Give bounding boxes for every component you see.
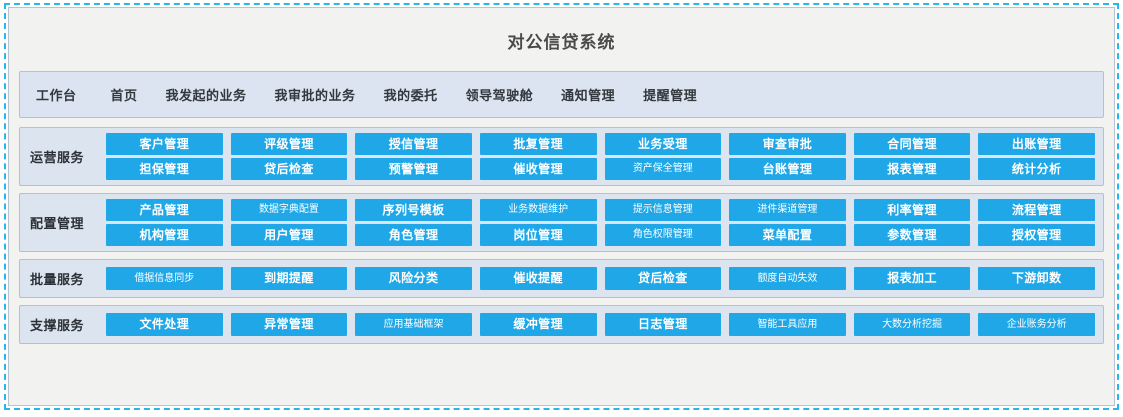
- module-tile[interactable]: 批复管理: [480, 133, 597, 155]
- tile-column: 异常管理: [231, 313, 348, 336]
- tile-column: 催收提醒: [480, 267, 597, 290]
- module-tile[interactable]: 参数管理: [854, 224, 971, 246]
- module-tile[interactable]: 企业账务分析: [978, 313, 1095, 336]
- module-tile[interactable]: 评级管理: [231, 133, 348, 155]
- module-tile[interactable]: 产品管理: [106, 199, 223, 221]
- module-tile[interactable]: 异常管理: [231, 313, 348, 336]
- module-tile[interactable]: 提示信息管理: [605, 199, 722, 221]
- section-0: 运营服务客户管理担保管理评级管理贷后检查授信管理预警管理批复管理催收管理业务受理…: [19, 127, 1104, 186]
- tile-column: 贷后检查: [605, 267, 722, 290]
- tile-column: 额度自动失效: [729, 267, 846, 290]
- module-tile[interactable]: 催收管理: [480, 158, 597, 180]
- nav-item-7[interactable]: 提醒管理: [643, 85, 697, 104]
- tile-column: 到期提醒: [231, 267, 348, 290]
- module-tile[interactable]: 客户管理: [106, 133, 223, 155]
- module-tile[interactable]: 智能工具应用: [729, 313, 846, 336]
- module-tile[interactable]: 大数分析挖掘: [854, 313, 971, 336]
- section-grid: 文件处理异常管理应用基础框架缓冲管理日志管理智能工具应用大数分析挖掘企业账务分析: [106, 313, 1095, 336]
- module-tile[interactable]: 报表加工: [854, 267, 971, 290]
- app-window: 对公信贷系统 工作台首页我发起的业务我审批的业务我的委托领导驾驶舱通知管理提醒管…: [8, 7, 1115, 406]
- section-1: 配置管理产品管理机构管理数据字典配置用户管理序列号模板角色管理业务数据维护岗位管…: [19, 193, 1104, 252]
- module-tile[interactable]: 到期提醒: [231, 267, 348, 290]
- tile-column: 下游卸数: [978, 267, 1095, 290]
- module-tile[interactable]: 统计分析: [978, 158, 1095, 180]
- tile-column: 日志管理: [605, 313, 722, 336]
- section-grid: 借据信息同步到期提醒风险分类催收提醒贷后检查额度自动失效报表加工下游卸数: [106, 267, 1095, 290]
- module-tile[interactable]: 授信管理: [355, 133, 472, 155]
- tile-column: 大数分析挖掘: [854, 313, 971, 336]
- tile-column: 报表加工: [854, 267, 971, 290]
- module-tile[interactable]: 角色管理: [355, 224, 472, 246]
- module-sections: 运营服务客户管理担保管理评级管理贷后检查授信管理预警管理批复管理催收管理业务受理…: [19, 127, 1104, 344]
- tile-column: 文件处理: [106, 313, 223, 336]
- module-tile[interactable]: 菜单配置: [729, 224, 846, 246]
- nav-item-3[interactable]: 我审批的业务: [275, 85, 356, 104]
- nav-item-2[interactable]: 我发起的业务: [166, 85, 247, 104]
- top-navigation-bar: 工作台首页我发起的业务我审批的业务我的委托领导驾驶舱通知管理提醒管理: [19, 71, 1104, 118]
- tile-column: 风险分类: [355, 267, 472, 290]
- module-tile[interactable]: 担保管理: [106, 158, 223, 180]
- tile-column: 企业账务分析: [978, 313, 1095, 336]
- module-tile[interactable]: 审查审批: [729, 133, 846, 155]
- tile-column: 应用基础框架: [355, 313, 472, 336]
- tile-column: 序列号模板角色管理: [355, 199, 472, 246]
- nav-item-5[interactable]: 领导驾驶舱: [466, 85, 534, 104]
- module-tile[interactable]: 业务数据维护: [480, 199, 597, 221]
- module-tile[interactable]: 数据字典配置: [231, 199, 348, 221]
- section-label: 配置管理: [30, 213, 106, 232]
- tile-column: 缓冲管理: [480, 313, 597, 336]
- nav-item-1[interactable]: 首页: [111, 85, 138, 104]
- section-2: 批量服务借据信息同步到期提醒风险分类催收提醒贷后检查额度自动失效报表加工下游卸数: [19, 259, 1104, 298]
- tile-column: 合同管理报表管理: [854, 133, 971, 180]
- module-tile[interactable]: 贷后检查: [231, 158, 348, 180]
- module-tile[interactable]: 利率管理: [854, 199, 971, 221]
- module-tile[interactable]: 流程管理: [978, 199, 1095, 221]
- tile-column: 评级管理贷后检查: [231, 133, 348, 180]
- tile-column: 业务数据维护岗位管理: [480, 199, 597, 246]
- tile-column: 流程管理授权管理: [978, 199, 1095, 246]
- section-grid: 客户管理担保管理评级管理贷后检查授信管理预警管理批复管理催收管理业务受理资产保全…: [106, 133, 1095, 180]
- tile-column: 授信管理预警管理: [355, 133, 472, 180]
- tile-column: 产品管理机构管理: [106, 199, 223, 246]
- module-tile[interactable]: 贷后检查: [605, 267, 722, 290]
- module-tile[interactable]: 出账管理: [978, 133, 1095, 155]
- module-tile[interactable]: 文件处理: [106, 313, 223, 336]
- module-tile[interactable]: 报表管理: [854, 158, 971, 180]
- module-tile[interactable]: 借据信息同步: [106, 267, 223, 290]
- module-tile[interactable]: 用户管理: [231, 224, 348, 246]
- section-label: 运营服务: [30, 147, 106, 166]
- page-title: 对公信贷系统: [19, 8, 1104, 71]
- section-3: 支撑服务文件处理异常管理应用基础框架缓冲管理日志管理智能工具应用大数分析挖掘企业…: [19, 305, 1104, 344]
- tile-column: 利率管理参数管理: [854, 199, 971, 246]
- tile-column: 审查审批台账管理: [729, 133, 846, 180]
- module-tile[interactable]: 合同管理: [854, 133, 971, 155]
- module-tile[interactable]: 进件渠道管理: [729, 199, 846, 221]
- nav-item-4[interactable]: 我的委托: [384, 85, 438, 104]
- tile-column: 进件渠道管理菜单配置: [729, 199, 846, 246]
- app-selection-frame: 对公信贷系统 工作台首页我发起的业务我审批的业务我的委托领导驾驶舱通知管理提醒管…: [4, 3, 1119, 410]
- module-tile[interactable]: 下游卸数: [978, 267, 1095, 290]
- tile-column: 智能工具应用: [729, 313, 846, 336]
- tile-column: 借据信息同步: [106, 267, 223, 290]
- tile-column: 业务受理资产保全管理: [605, 133, 722, 180]
- module-tile[interactable]: 岗位管理: [480, 224, 597, 246]
- nav-item-0[interactable]: 工作台: [36, 85, 77, 104]
- module-tile[interactable]: 角色权限管理: [605, 224, 722, 246]
- module-tile[interactable]: 风险分类: [355, 267, 472, 290]
- module-tile[interactable]: 催收提醒: [480, 267, 597, 290]
- section-grid: 产品管理机构管理数据字典配置用户管理序列号模板角色管理业务数据维护岗位管理提示信…: [106, 199, 1095, 246]
- nav-item-6[interactable]: 通知管理: [561, 85, 615, 104]
- module-tile[interactable]: 机构管理: [106, 224, 223, 246]
- module-tile[interactable]: 序列号模板: [355, 199, 472, 221]
- module-tile[interactable]: 缓冲管理: [480, 313, 597, 336]
- section-label: 支撑服务: [30, 315, 106, 334]
- module-tile[interactable]: 应用基础框架: [355, 313, 472, 336]
- tile-column: 提示信息管理角色权限管理: [605, 199, 722, 246]
- module-tile[interactable]: 预警管理: [355, 158, 472, 180]
- tile-column: 客户管理担保管理: [106, 133, 223, 180]
- module-tile[interactable]: 授权管理: [978, 224, 1095, 246]
- module-tile[interactable]: 台账管理: [729, 158, 846, 180]
- module-tile[interactable]: 额度自动失效: [729, 267, 846, 290]
- module-tile[interactable]: 资产保全管理: [605, 158, 722, 180]
- tile-column: 批复管理催收管理: [480, 133, 597, 180]
- tile-column: 出账管理统计分析: [978, 133, 1095, 180]
- tile-column: 数据字典配置用户管理: [231, 199, 348, 246]
- section-label: 批量服务: [30, 269, 106, 288]
- module-tile[interactable]: 业务受理: [605, 133, 722, 155]
- module-tile[interactable]: 日志管理: [605, 313, 722, 336]
